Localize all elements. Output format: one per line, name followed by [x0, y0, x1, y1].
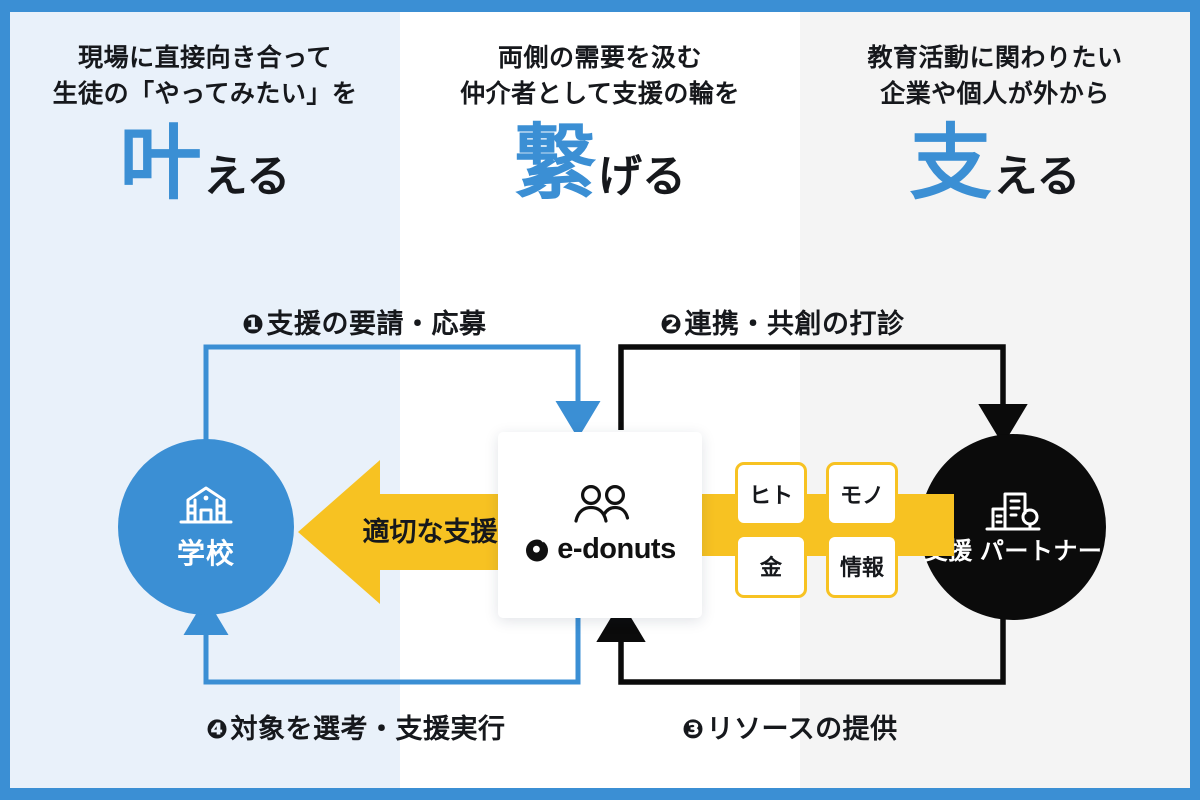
connector-flow-3	[621, 612, 1003, 682]
flow-text-3: リソースの提供	[707, 714, 898, 744]
node-hub-card[interactable]: e-donuts	[498, 432, 702, 618]
flow-label-2: ❷連携・共創の打診	[660, 302, 905, 341]
flow-number-1: ❶	[242, 309, 265, 339]
poster-canvas: 現場に直接向き合って 生徒の「やってみたい」を 叶 える 両側の需要を汲む 仲介…	[10, 12, 1190, 788]
two-people-icon	[570, 484, 630, 526]
connector-wires	[10, 12, 1190, 788]
resource-chip-mono[interactable]: モノ	[826, 462, 898, 526]
connector-flow-4	[206, 612, 578, 682]
supply-arrow-label: 適切な支援	[340, 510, 520, 549]
resource-chip-joho[interactable]: 情報	[826, 534, 898, 598]
flow-number-2: ❷	[660, 309, 683, 339]
flow-number-3: ❸	[682, 714, 705, 744]
flow-text-1: 支援の要請・応募	[267, 309, 487, 339]
flow-text-4: 対象を選考・支援実行	[231, 714, 506, 744]
flow-label-4: ❹対象を選考・支援実行	[206, 707, 506, 746]
node-school[interactable]: 学校	[118, 439, 294, 615]
office-building-icon	[985, 489, 1041, 533]
resource-chip-hito[interactable]: ヒト	[735, 462, 807, 526]
flow-text-2: 連携・共創の打診	[685, 309, 905, 339]
flow-label-1: ❶支援の要請・応募	[242, 302, 487, 341]
flow-number-4: ❹	[206, 714, 229, 744]
flow-label-3: ❸リソースの提供	[682, 707, 898, 746]
school-building-icon	[178, 482, 234, 526]
resource-chip-kane[interactable]: 金	[735, 534, 807, 598]
donut-icon	[524, 537, 550, 563]
flow-diagram: ❶支援の要請・応募 ❷連携・共創の打診 ❸リソースの提供 ❹対象を選考・支援実行…	[10, 12, 1190, 788]
hub-logo-text: e-donuts	[557, 533, 675, 566]
connector-flow-1	[206, 347, 578, 442]
hub-wordmark: e-donuts	[524, 533, 675, 566]
connector-flow-2	[621, 347, 1003, 430]
node-school-label: 学校	[177, 532, 235, 572]
